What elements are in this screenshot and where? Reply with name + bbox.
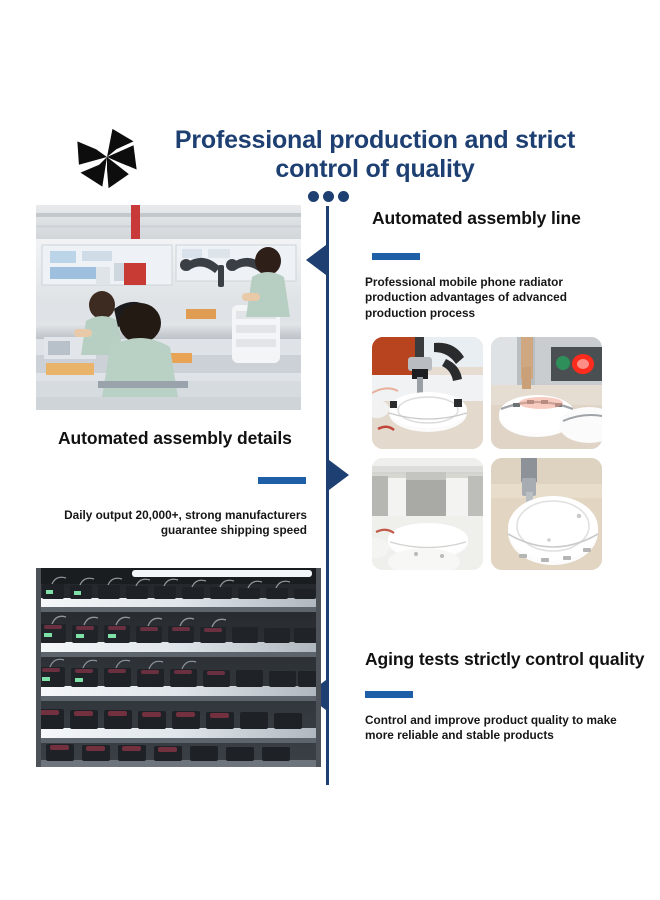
page-header: Professional production and strict contr… <box>0 110 660 188</box>
accent-bar-assembly-line <box>372 253 420 260</box>
factory-assembly-floor-photo <box>36 205 301 410</box>
product-photo-grid <box>372 337 602 570</box>
section-heading-automated-assembly-details: Automated assembly details <box>58 428 292 449</box>
product-photo-laser-marking <box>491 337 602 449</box>
product-photo-drill-press <box>372 337 483 449</box>
pinwheel-shutter-logo <box>68 118 146 196</box>
accent-bar-aging-tests <box>365 691 413 698</box>
section-heading-automated-assembly-line: Automated assembly line <box>372 208 581 229</box>
timeline-dot <box>338 191 349 202</box>
product-photo-press-fit <box>372 458 483 570</box>
timeline-dots <box>308 191 348 204</box>
timeline-vertical-line <box>326 206 329 785</box>
accent-bar-assembly-details <box>258 477 306 484</box>
marker-assembly-details-arrow-icon <box>329 460 349 490</box>
page-title-line1: Professional production and strict <box>175 126 575 154</box>
page-title: Professional production and strict contr… <box>150 126 600 184</box>
section-body-automated-assembly-details: Daily output 20,000+, strong manufacture… <box>20 508 307 539</box>
timeline-dot <box>308 191 319 202</box>
section-body-aging-tests: Control and improve product quality to m… <box>365 713 640 744</box>
section-body-automated-assembly-line: Professional mobile phone radiator produ… <box>365 275 627 321</box>
product-photo-inspection <box>491 458 602 570</box>
marker-assembly-line-arrow-icon <box>306 245 326 275</box>
timeline-dot <box>323 191 334 202</box>
infographic-page: Professional production and strict contr… <box>0 0 660 900</box>
aging-test-rack-photo <box>36 568 321 767</box>
page-title-line2: control of quality <box>275 155 474 183</box>
section-heading-aging-tests: Aging tests strictly control quality <box>365 649 644 670</box>
